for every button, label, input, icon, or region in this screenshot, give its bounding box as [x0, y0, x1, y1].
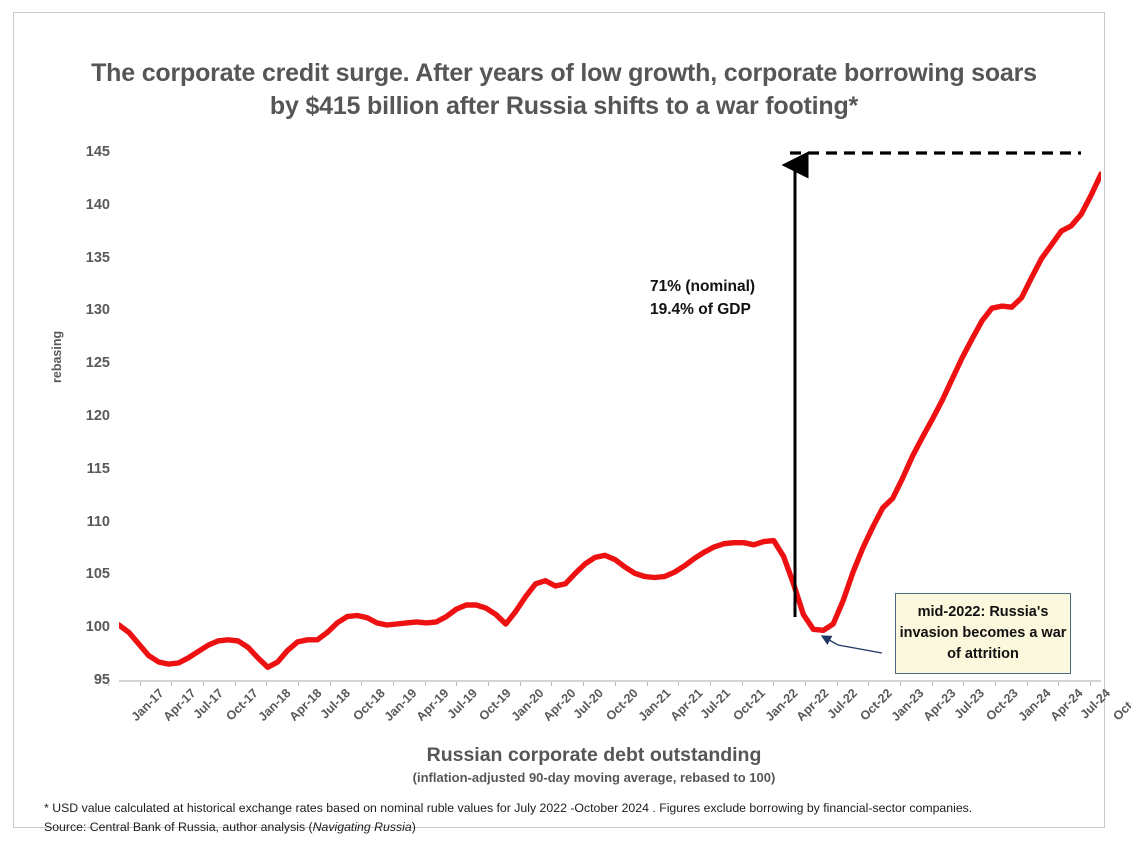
x-axis-tick-mark [805, 682, 806, 686]
x-axis-tick-mark [520, 682, 521, 686]
source-suffix: ) [412, 820, 416, 834]
x-axis-tick-mark [615, 682, 616, 686]
x-axis-tick-mark [995, 682, 996, 686]
x-axis-tick-mark [963, 682, 964, 686]
x-axis-tick-mark [235, 682, 236, 686]
x-axis-tick-mark [425, 682, 426, 686]
invasion-callout-box: mid-2022: Russia's invasion becomes a wa… [895, 593, 1071, 674]
x-axis-tick-mark [868, 682, 869, 686]
x-axis-tick-mark [330, 682, 331, 686]
x-axis-tick-mark [1090, 682, 1091, 686]
x-axis-tick-mark [742, 682, 743, 686]
x-axis-tick-mark [932, 682, 933, 686]
x-axis-tick-mark [773, 682, 774, 686]
x-axis-tick-mark [1058, 682, 1059, 686]
x-axis-tick-mark [900, 682, 901, 686]
x-axis-tick-mark [456, 682, 457, 686]
x-axis-tick-mark [108, 682, 109, 686]
footnote-source: Source: Central Bank of Russia, author a… [44, 818, 1094, 837]
x-axis-tick-mark [393, 682, 394, 686]
x-axis-tick-mark [583, 682, 584, 686]
x-axis-tick-mark [551, 682, 552, 686]
x-axis-tick-mark [266, 682, 267, 686]
x-axis-title: Russian corporate debt outstanding [314, 744, 874, 767]
x-axis-tick-mark [140, 682, 141, 686]
footnotes: * USD value calculated at historical exc… [44, 799, 1094, 837]
callout-pointer-line [822, 636, 882, 653]
x-axis-tick-label: Oct-24 [1110, 686, 1131, 723]
source-prefix: Source: Central Bank of Russia, author a… [44, 820, 313, 834]
x-axis-tick-mark [298, 682, 299, 686]
x-axis-tick-mark [1027, 682, 1028, 686]
x-axis-tick-mark [488, 682, 489, 686]
x-axis-tick-mark [171, 682, 172, 686]
invasion-callout-text: mid-2022: Russia's invasion becomes a wa… [896, 602, 1070, 665]
x-axis-subtitle: (inflation-adjusted 90-day moving averag… [314, 770, 874, 785]
x-axis-tick-mark [678, 682, 679, 686]
x-axis-tick-mark [203, 682, 204, 686]
x-axis-tick-mark [361, 682, 362, 686]
x-axis-tick-mark [710, 682, 711, 686]
x-axis-tick-mark [837, 682, 838, 686]
growth-annotation: 71% (nominal) 19.4% of GDP [650, 275, 755, 321]
chart-frame: The corporate credit surge. After years … [13, 12, 1105, 828]
growth-gdp-label: 19.4% of GDP [650, 298, 755, 321]
footnote-methodology: * USD value calculated at historical exc… [44, 799, 1094, 818]
x-axis-tick-mark [647, 682, 648, 686]
growth-nominal-label: 71% (nominal) [650, 275, 755, 298]
source-publication: Navigating Russia [313, 820, 412, 834]
